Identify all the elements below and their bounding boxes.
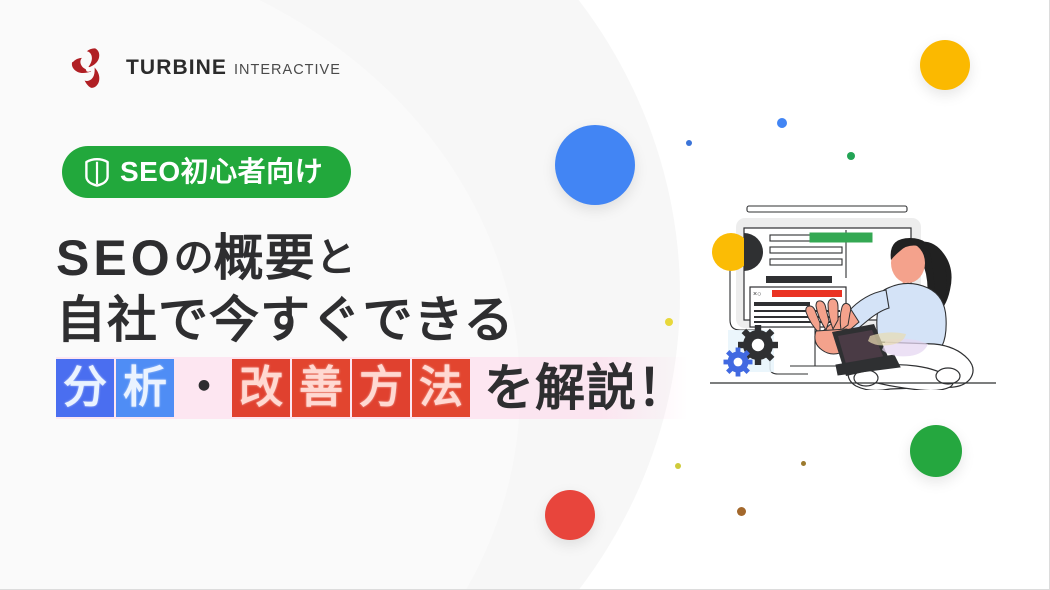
- headline-char-box-善: 善: [292, 359, 350, 417]
- blue-small-dot-b: [777, 118, 787, 128]
- headline-line3-separator: ・: [176, 366, 232, 410]
- headline-char-box-分: 分: [56, 359, 114, 417]
- headline-char-box-析: 析: [116, 359, 174, 417]
- brand-logo[interactable]: TURBINE INTERACTIVE: [62, 42, 341, 94]
- headline-block: SEO の 概要 と 自社で今すぐできる 分析・改善方法を解説！: [56, 228, 688, 419]
- audience-badge-label: SEO初心者向け: [120, 158, 323, 186]
- blue-small-dot-a: [686, 140, 692, 146]
- headline-line1-to: と: [316, 234, 356, 283]
- headline-line1-gaiyou: 概要: [214, 228, 316, 290]
- headline-char-box-法: 法: [412, 359, 470, 417]
- red-large-circle: [545, 490, 595, 540]
- blue-large-circle: [555, 125, 635, 205]
- green-large-circle: [910, 425, 962, 477]
- logo-name-secondary: INTERACTIVE: [234, 62, 341, 78]
- turbine-triskelion-mark-icon: [62, 42, 114, 94]
- green-small-dot: [847, 152, 855, 160]
- brown-small-dot-b: [801, 461, 806, 466]
- yellow-large-circle: [920, 40, 970, 90]
- brown-small-dot-a: [737, 507, 746, 516]
- shoshinsha-beginner-mark-icon: [84, 157, 110, 187]
- headline-char-box-改: 改: [232, 359, 290, 417]
- svg-text:×○: ×○: [753, 291, 761, 298]
- headline-line1-no: の: [174, 234, 214, 283]
- headline-line3-tail: を解説！: [472, 363, 688, 413]
- headline-line-2: 自社で今すぐできる: [56, 290, 688, 352]
- audience-badge[interactable]: SEO初心者向け: [62, 146, 351, 198]
- headline-line1-seo: SEO: [56, 228, 174, 290]
- promotional-banner: TURBINE INTERACTIVE SEO初心者向け SEO の 概要 と …: [0, 0, 1050, 590]
- headline-line-3: 分析・改善方法を解説！: [56, 357, 688, 419]
- headline-line-1: SEO の 概要 と: [56, 228, 688, 290]
- logo-name-primary: TURBINE: [126, 56, 227, 80]
- yellow-small-dot-b: [675, 463, 681, 469]
- headline-char-box-方: 方: [352, 359, 410, 417]
- hero-illustration: ×○: [700, 190, 1000, 390]
- logo-wordmark: TURBINE INTERACTIVE: [126, 56, 341, 80]
